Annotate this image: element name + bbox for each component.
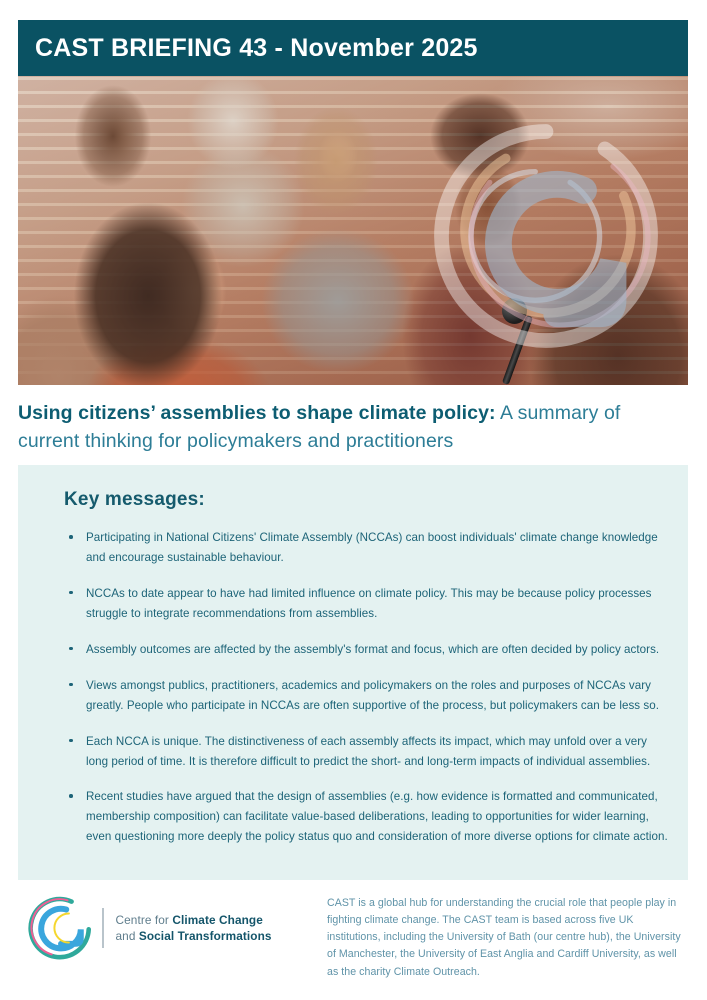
logo-wordmark-line2: and Social Transformations xyxy=(116,928,272,944)
bullet-icon xyxy=(69,683,73,687)
footer-description: CAST is a global hub for understanding t… xyxy=(327,895,685,981)
footer: Centre for Climate Change and Social Tra… xyxy=(0,890,707,990)
briefing-page: CAST BRIEFING 43 - November 2025 Using c… xyxy=(0,0,707,1000)
bullet-icon xyxy=(69,739,73,743)
list-item-text: NCCAs to date appear to have had limited… xyxy=(86,587,652,620)
microphone-head-icon xyxy=(502,298,527,324)
cast-spiral-logo-icon xyxy=(28,895,94,961)
hero-image xyxy=(18,76,688,385)
list-item-text: Views amongst publics, practitioners, ac… xyxy=(86,679,659,712)
list-item: Each NCCA is unique. The distinctiveness… xyxy=(64,732,672,772)
logo-divider xyxy=(102,908,104,948)
list-item: Participating in National Citizens' Clim… xyxy=(64,528,672,568)
list-item-text: Recent studies have argued that the desi… xyxy=(86,790,668,843)
list-item: Views amongst publics, practitioners, ac… xyxy=(64,676,672,716)
document-subtitle: Using citizens’ assemblies to shape clim… xyxy=(18,400,668,455)
logo-line1-light: Centre for xyxy=(116,913,173,927)
subtitle-bold: Using citizens’ assemblies to shape clim… xyxy=(18,402,496,424)
logo-wordmark-line1: Centre for Climate Change xyxy=(116,912,272,928)
logo-wordmark: Centre for Climate Change and Social Tra… xyxy=(116,912,272,945)
hero-photograph xyxy=(18,76,688,385)
page-title: CAST BRIEFING 43 - November 2025 xyxy=(18,36,478,61)
logo-line2-bold: Social Transformations xyxy=(139,929,272,943)
list-item: NCCAs to date appear to have had limited… xyxy=(64,584,672,624)
bullet-icon xyxy=(69,647,73,651)
key-messages-list: Participating in National Citizens' Clim… xyxy=(64,528,672,847)
list-item: Assembly outcomes are affected by the as… xyxy=(64,640,672,660)
bullet-icon xyxy=(69,591,73,595)
key-messages-panel: Key messages: Participating in National … xyxy=(18,465,688,880)
key-messages-heading: Key messages: xyxy=(64,489,205,511)
header-bar: CAST BRIEFING 43 - November 2025 xyxy=(18,20,688,76)
logo-line1-bold: Climate Change xyxy=(172,913,263,927)
list-item-text: Each NCCA is unique. The distinctiveness… xyxy=(86,735,650,768)
bullet-icon xyxy=(69,535,73,539)
list-item-text: Participating in National Citizens' Clim… xyxy=(86,531,658,564)
cast-logo-block: Centre for Climate Change and Social Tra… xyxy=(28,895,272,961)
bullet-icon xyxy=(69,794,73,798)
list-item-text: Assembly outcomes are affected by the as… xyxy=(86,643,659,656)
logo-line2-light: and xyxy=(116,929,139,943)
list-item: Recent studies have argued that the desi… xyxy=(64,787,672,847)
